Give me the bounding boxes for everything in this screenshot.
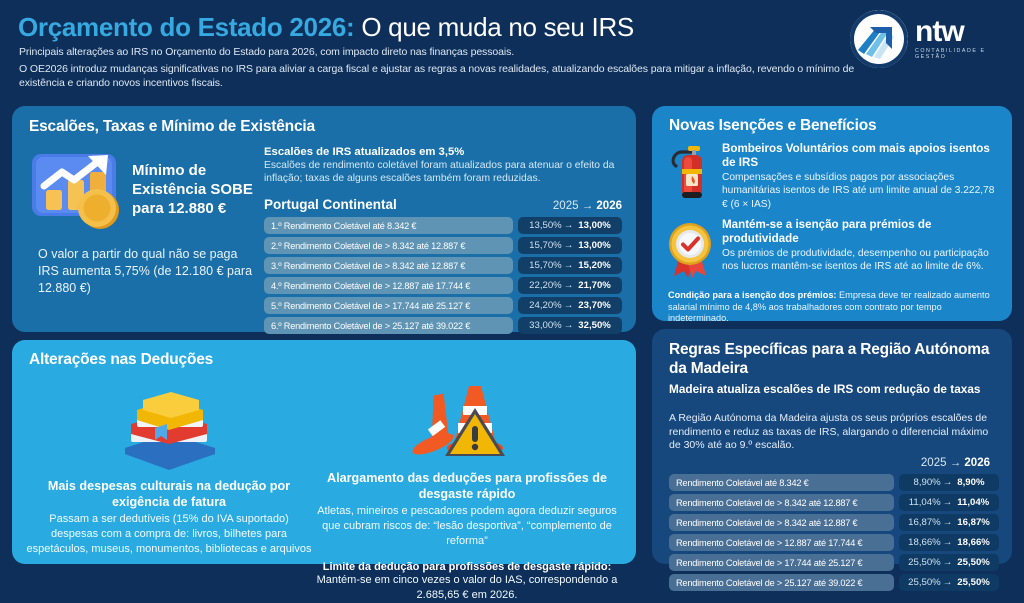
rate-from: 25,50% — [908, 557, 941, 568]
table-row-value: 33,00%→32,50% — [518, 317, 622, 334]
table-row-label: Rendimento Coletável de > 8.342 até 12.8… — [669, 494, 894, 511]
panel-isencoes: Novas Isenções e Benefícios Bombeiros Vo… — [652, 106, 1012, 321]
benefit-bombeiros-heading: Bombeiros Voluntários com mais apoios is… — [722, 142, 1000, 170]
panel-deducoes-title: Alterações nas Deduções — [29, 351, 213, 369]
table-row: Rendimento Coletável de > 25.127 até 39.… — [669, 574, 999, 591]
isencoes-condition-label: Condição para a isenção dos prémios: — [668, 290, 836, 300]
ntw-logo-text: ntw CONTABILIDADE E GESTÃO — [915, 18, 1010, 61]
table-row-value: 15,70%→13,00% — [518, 237, 622, 254]
table-row-label: 5.º Rendimento Coletável de > 17.744 até… — [264, 297, 513, 314]
deducoes-desgaste-block: Alargamento das deduções para profissões… — [308, 376, 626, 603]
table-row-label: Rendimento Coletável de > 17.744 até 25.… — [669, 554, 894, 571]
table-row: Rendimento Coletável de > 8.342 até 12.8… — [669, 514, 999, 531]
page-title-highlight: Orçamento do Estado 2026: — [18, 12, 354, 42]
benefit-premios-text: Os prémios de produtividade, desempenho … — [722, 247, 1000, 274]
minimo-existencia-block: Mínimo de Existência SOBE para 12.880 € … — [26, 146, 254, 297]
panel-escaloes-title: Escalões, Taxas e Mínimo de Existência — [29, 118, 315, 136]
rate-arrow-icon: → — [943, 517, 953, 528]
rate-from: 13,50% — [529, 220, 562, 231]
panel-madeira: Regras Específicas para a Região Autónom… — [652, 329, 1012, 564]
deducoes-desgaste-heading: Alargamento das deduções para profissões… — [308, 470, 626, 502]
table-row-value: 8,90%→8,90% — [899, 474, 999, 491]
table-row-value: 25,50%→25,50% — [899, 554, 999, 571]
traffic-cone-warning-icon — [397, 378, 537, 460]
table-row: 4.º Rendimento Coletável de > 12.887 até… — [264, 277, 622, 294]
rate-arrow-icon: → — [564, 300, 574, 311]
escaloes-year-from: 2025 — [553, 200, 579, 212]
escaloes-table-kicker: Escalões de IRS atualizados em 3,5% — [264, 146, 622, 158]
table-row: Rendimento Coletável de > 8.342 até 12.8… — [669, 494, 999, 511]
table-row-value: 13,50%→13,00% — [518, 217, 622, 234]
rate-to: 8,90% — [957, 477, 984, 488]
table-row: Rendimento Coletável de > 12.887 até 17.… — [669, 534, 999, 551]
growth-chart-icon — [26, 146, 126, 232]
rate-arrow-icon: → — [564, 240, 574, 251]
rate-from: 15,70% — [529, 240, 562, 251]
rate-arrow-icon: → — [943, 477, 953, 488]
header-subtitle-1: Principais alterações ao IRS no Orçament… — [19, 46, 514, 58]
header-subtitle-2: O OE2026 introduz mudanças significativa… — [19, 62, 859, 90]
table-row-value: 16,87%→16,87% — [899, 514, 999, 531]
madeira-years-label: 2025 → 2026 — [921, 457, 990, 469]
rate-to: 16,87% — [957, 517, 990, 528]
escaloes-year-arrow-icon: → — [582, 200, 594, 212]
benefit-premios-heading: Mantém-se a isenção para prémios de prod… — [722, 218, 1000, 246]
madeira-text: A Região Autónoma da Madeira ajusta os s… — [669, 412, 1001, 453]
rate-to: 32,50% — [578, 320, 611, 331]
rate-from: 8,90% — [914, 477, 941, 488]
minimo-existencia-heading: Mínimo de Existência SOBE para 12.880 € — [132, 161, 254, 218]
escaloes-rows: 1.º Rendimento Coletável até 8.342 €13,5… — [264, 217, 622, 334]
madeira-year-from: 2025 — [921, 457, 947, 469]
ntw-tagline: CONTABILIDADE E GESTÃO — [915, 48, 1010, 60]
rate-arrow-icon: → — [564, 220, 574, 231]
rate-arrow-icon: → — [564, 320, 574, 331]
table-row-label: Rendimento Coletável de > 8.342 até 12.8… — [669, 514, 894, 531]
table-row: 3.º Rendimento Coletável de > 8.342 até … — [264, 257, 622, 274]
benefit-premios: Mantém-se a isenção para prémios de prod… — [666, 218, 1000, 280]
table-row-label: Rendimento Coletável até 8.342 € — [669, 474, 894, 491]
rate-arrow-icon: → — [943, 577, 953, 588]
table-row-value: 18,66%→18,66% — [899, 534, 999, 551]
panel-madeira-title: Regras Específicas para a Região Autónom… — [669, 340, 999, 378]
escaloes-region-label: Portugal Continental — [264, 197, 397, 212]
table-row-value: 15,70%→15,20% — [518, 257, 622, 274]
rate-to: 25,50% — [957, 557, 990, 568]
madeira-year-arrow-icon: → — [950, 457, 962, 469]
rate-arrow-icon: → — [564, 280, 574, 291]
rate-arrow-icon: → — [564, 260, 574, 271]
benefit-bombeiros: Bombeiros Voluntários com mais apoios is… — [666, 142, 1000, 211]
rate-from: 22,20% — [529, 280, 562, 291]
rate-to: 15,20% — [578, 260, 611, 271]
rate-arrow-icon: → — [943, 537, 953, 548]
rate-to: 18,66% — [957, 537, 990, 548]
escaloes-table-block: Escalões de IRS atualizados em 3,5% Esca… — [264, 146, 622, 337]
benefit-bombeiros-text: Compensações e subsídios pagos por assoc… — [722, 171, 1000, 211]
rate-from: 11,04% — [909, 497, 941, 508]
table-row: 6.º Rendimento Coletável de > 25.127 até… — [264, 317, 622, 334]
panel-escaloes: Escalões, Taxas e Mínimo de Existência — [12, 106, 636, 332]
table-row-value: 25,50%→25,50% — [899, 574, 999, 591]
ntw-logo-mark-icon — [850, 10, 908, 68]
page-title-rest: O que muda no seu IRS — [354, 12, 634, 42]
deducoes-desgaste-text: Atletas, mineiros e pescadores podem ago… — [308, 504, 626, 549]
rate-from: 24,20% — [529, 300, 562, 311]
table-row-label: 3.º Rendimento Coletável de > 8.342 até … — [264, 257, 513, 274]
madeira-year-to: 2026 — [964, 457, 990, 469]
rate-from: 25,50% — [908, 577, 941, 588]
table-row: Rendimento Coletável até 8.342 €8,90%→8,… — [669, 474, 999, 491]
madeira-heading: Madeira atualiza escalões de IRS com red… — [669, 382, 999, 397]
rate-to: 21,70% — [578, 280, 611, 291]
table-row-label: 6.º Rendimento Coletável de > 25.127 até… — [264, 317, 513, 334]
rate-to: 25,50% — [957, 577, 990, 588]
rate-from: 33,00% — [529, 320, 562, 331]
fire-extinguisher-icon — [666, 142, 714, 204]
table-row: 5.º Rendimento Coletável de > 17.744 até… — [264, 297, 622, 314]
rate-from: 18,66% — [908, 537, 941, 548]
ntw-wordmark: ntw — [915, 18, 1010, 46]
rate-arrow-icon: → — [943, 497, 953, 508]
books-icon — [99, 378, 239, 470]
rate-to: 13,00% — [578, 220, 611, 231]
deducoes-culturais-block: Mais despesas culturais na dedução por e… — [26, 376, 312, 557]
infographic-page: Orçamento do Estado 2026: O que muda no … — [0, 0, 1024, 576]
ntw-logo: ntw CONTABILIDADE E GESTÃO — [850, 8, 1010, 70]
panel-isencoes-title: Novas Isenções e Benefícios — [669, 117, 876, 135]
page-title: Orçamento do Estado 2026: O que muda no … — [18, 12, 634, 43]
award-medal-icon — [666, 218, 714, 280]
deducoes-culturais-text: Passam a ser dedutíveis (15% do IVA supo… — [26, 512, 312, 557]
header: Orçamento do Estado 2026: O que muda no … — [0, 0, 1024, 98]
table-row-value: 22,20%→21,70% — [518, 277, 622, 294]
isencoes-condition: Condição para a isenção dos prémios: Emp… — [668, 290, 1000, 325]
table-row: Rendimento Coletável de > 17.744 até 25.… — [669, 554, 999, 571]
escaloes-year-to: 2026 — [596, 200, 622, 212]
rate-to: 23,70% — [578, 300, 611, 311]
table-row-label: 2.º Rendimento Coletável de > 8.342 até … — [264, 237, 513, 254]
table-row-value: 11,04%→11,04% — [899, 494, 999, 511]
escaloes-years-label: 2025 → 2026 — [553, 200, 622, 212]
logo-arrows-icon — [850, 10, 908, 68]
escaloes-table-header: Portugal Continental 2025 → 2026 — [264, 197, 622, 212]
deducoes-culturais-heading: Mais despesas culturais na dedução por e… — [26, 478, 312, 510]
table-row: 1.º Rendimento Coletável até 8.342 €13,5… — [264, 217, 622, 234]
table-row-value: 24,20%→23,70% — [518, 297, 622, 314]
deducoes-limite-text: Mantém-se em cinco vezes o valor do IAS,… — [308, 573, 626, 603]
table-row-label: 4.º Rendimento Coletável de > 12.887 até… — [264, 277, 513, 294]
rate-from: 15,70% — [529, 260, 562, 271]
rate-from: 16,87% — [908, 517, 941, 528]
rate-arrow-icon: → — [943, 557, 953, 568]
escaloes-table-subtitle: Escalões de rendimento coletável foram a… — [264, 159, 622, 185]
minimo-existencia-note: O valor a partir do qual não se paga IRS… — [26, 246, 254, 297]
panel-deducoes: Alterações nas Deduções Mais despesas cu… — [12, 340, 636, 564]
deducoes-limite-heading: Limite da dedução para profissões de des… — [308, 561, 626, 573]
table-row-label: Rendimento Coletável de > 25.127 até 39.… — [669, 574, 894, 591]
rate-to: 13,00% — [578, 240, 611, 251]
table-row-label: Rendimento Coletável de > 12.887 até 17.… — [669, 534, 894, 551]
rate-to: 11,04% — [957, 497, 989, 508]
table-row-label: 1.º Rendimento Coletável até 8.342 € — [264, 217, 513, 234]
madeira-rows: Rendimento Coletável até 8.342 €8,90%→8,… — [669, 474, 999, 594]
table-row: 2.º Rendimento Coletável de > 8.342 até … — [264, 237, 622, 254]
